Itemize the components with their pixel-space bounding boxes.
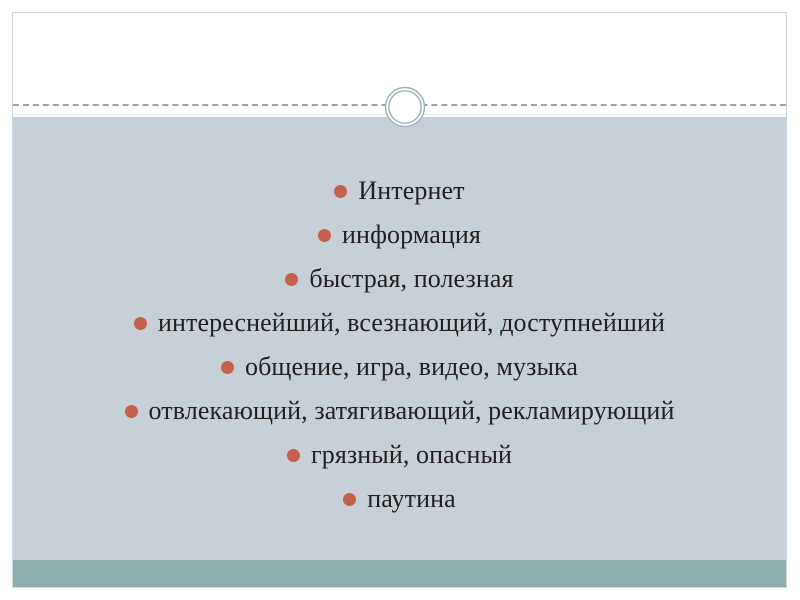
list-item-label: отвлекающий, затягивающий, рекламирующий xyxy=(149,396,675,425)
slide-frame: Интернет информация быстрая, полезная ин… xyxy=(12,12,787,588)
list-item: информация xyxy=(13,213,786,257)
list-item-label: общение, игра, видео, музыка xyxy=(245,352,578,381)
bullet-dot-icon xyxy=(134,317,147,330)
bullet-dot-icon xyxy=(334,185,347,198)
list-item-label: информация xyxy=(342,220,481,249)
list-item: отвлекающий, затягивающий, рекламирующий xyxy=(13,389,786,433)
double-ring-circle-icon xyxy=(384,86,426,128)
bullet-list: Интернет информация быстрая, полезная ин… xyxy=(13,169,786,521)
list-item-label: паутина xyxy=(367,484,456,513)
bullet-dot-icon xyxy=(343,493,356,506)
bullet-dot-icon xyxy=(221,361,234,374)
slide-footer-band xyxy=(13,560,786,587)
list-item: общение, игра, видео, музыка xyxy=(13,345,786,389)
bullet-dot-icon xyxy=(285,273,298,286)
list-item-label: грязный, опасный xyxy=(311,440,512,469)
list-item: грязный, опасный xyxy=(13,433,786,477)
list-item: интереснейший, всезнающий, доступнейший xyxy=(13,301,786,345)
list-item-label: Интернет xyxy=(358,176,464,205)
bullet-dot-icon xyxy=(318,229,331,242)
list-item: Интернет xyxy=(13,169,786,213)
slide-footer-edge xyxy=(13,587,786,588)
bullet-dot-icon xyxy=(287,449,300,462)
list-item-label: интереснейший, всезнающий, доступнейший xyxy=(158,308,665,337)
list-item: быстрая, полезная xyxy=(13,257,786,301)
list-item-label: быстрая, полезная xyxy=(309,264,513,293)
bullet-dot-icon xyxy=(125,405,138,418)
slide-canvas: Интернет информация быстрая, полезная ин… xyxy=(0,0,800,600)
list-item: паутина xyxy=(13,477,786,521)
